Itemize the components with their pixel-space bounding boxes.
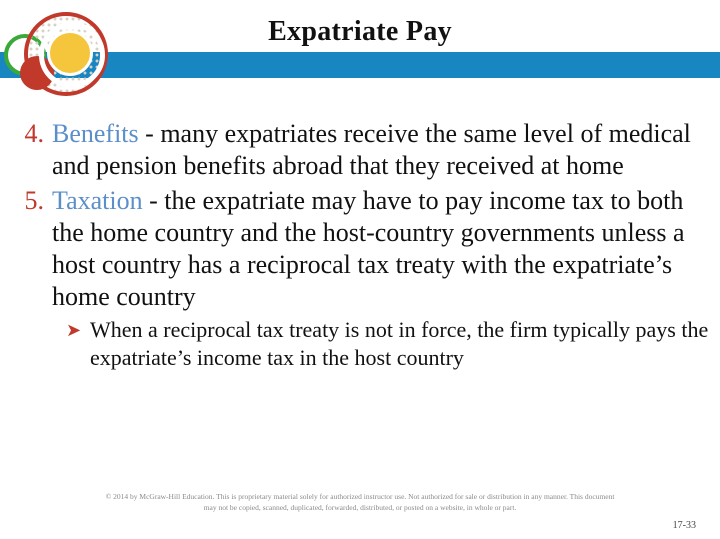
sub-list-item: ➤ When a reciprocal tax treaty is not in… <box>66 316 714 371</box>
list-item-body: - many expatriates receive the same leve… <box>52 119 691 180</box>
list-item-text: Benefits - many expatriates receive the … <box>52 118 714 181</box>
copyright-footer: © 2014 by McGraw-Hill Education. This is… <box>0 491 720 514</box>
list-item-keyword: Benefits <box>52 119 139 148</box>
copyright-line-1: © 2014 by McGraw-Hill Education. This is… <box>0 491 720 502</box>
list-item: 5. Taxation - the expatriate may have to… <box>14 185 714 312</box>
list-item-body: - the expatriate may have to pay income … <box>52 186 685 310</box>
page-title: Expatriate Pay <box>0 16 720 48</box>
slide-number: 17-33 <box>673 520 696 531</box>
arrow-bullet-icon: ➤ <box>66 316 90 342</box>
list-item-keyword: Taxation <box>52 186 143 215</box>
list-item-number: 5. <box>14 185 52 217</box>
list-item-text: Taxation - the expatriate may have to pa… <box>52 185 714 312</box>
slide-header: Expatriate Pay <box>0 0 720 100</box>
copyright-line-2: may not be copied, scanned, duplicated, … <box>0 502 720 513</box>
list-item-number: 4. <box>14 118 52 150</box>
slide-body: 4. Benefits - many expatriates receive t… <box>14 118 714 371</box>
list-item: 4. Benefits - many expatriates receive t… <box>14 118 714 181</box>
sub-list-item-text: When a reciprocal tax treaty is not in f… <box>90 316 714 371</box>
slide: Expatriate Pay 4. Benefits - many expatr… <box>0 0 720 539</box>
